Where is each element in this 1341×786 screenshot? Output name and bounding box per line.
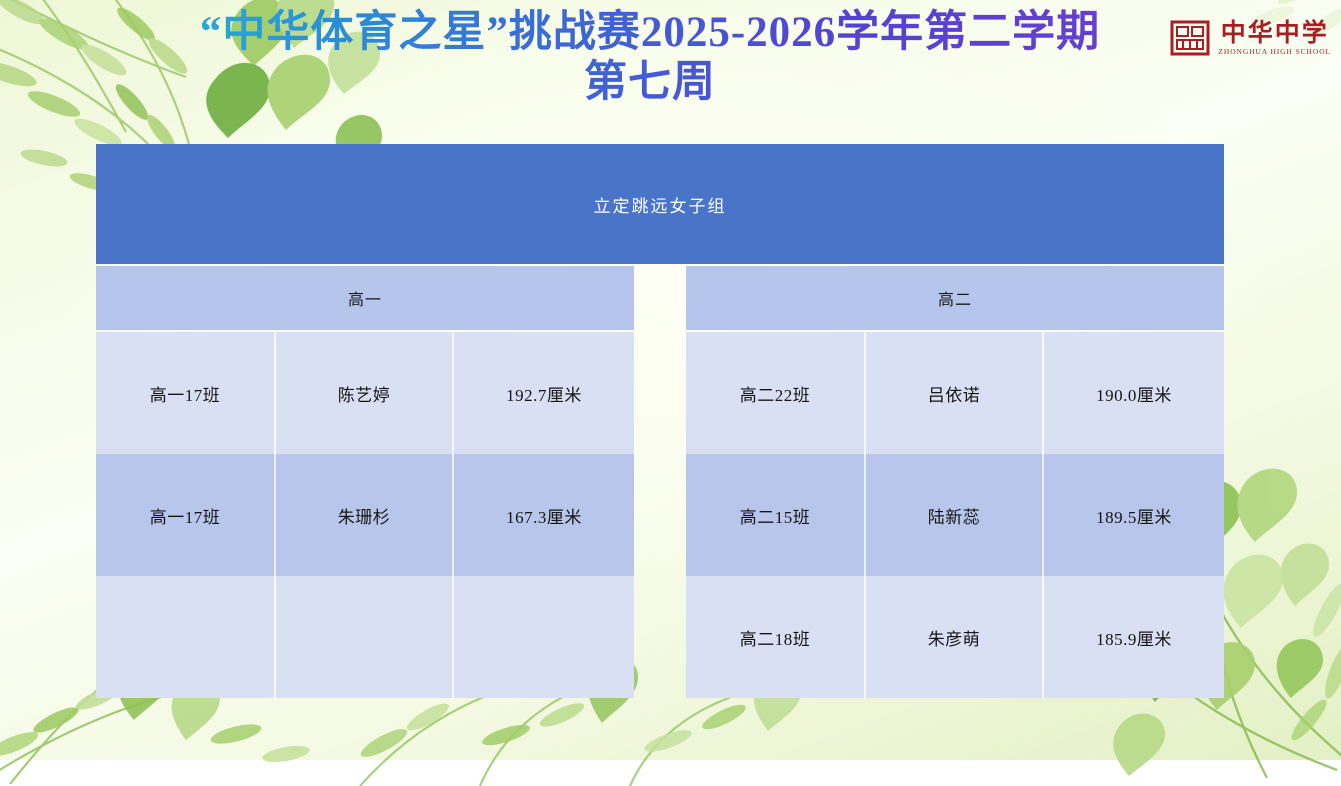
grade-title-2: 高二 bbox=[686, 266, 1224, 330]
cell-name: 陆新蕊 bbox=[866, 454, 1044, 576]
table-row: 高二15班 陆新蕊 189.5厘米 bbox=[686, 454, 1224, 576]
cell-result: 185.9厘米 bbox=[1044, 576, 1224, 698]
table-row: 高二18班 朱彦萌 185.9厘米 bbox=[686, 576, 1224, 698]
cell-name bbox=[276, 576, 454, 698]
grade-rows-2: 高二22班 吕依诺 190.0厘米 高二15班 陆新蕊 189.5厘米 高二18… bbox=[686, 332, 1224, 698]
cell-result bbox=[454, 576, 634, 698]
cell-result: 167.3厘米 bbox=[454, 454, 634, 576]
cell-class: 高一17班 bbox=[96, 454, 276, 576]
cell-name: 陈艺婷 bbox=[276, 332, 454, 454]
grade-columns: 高一 高一17班 陈艺婷 192.7厘米 高一17班 朱珊杉 167.3厘米 bbox=[96, 266, 1224, 698]
grade-title-1: 高一 bbox=[96, 266, 634, 330]
table-row: 高二22班 吕依诺 190.0厘米 bbox=[686, 332, 1224, 454]
results-table: 立定跳远女子组 高一 高一17班 陈艺婷 192.7厘米 高一17班 朱珊杉 1… bbox=[96, 144, 1224, 698]
event-title-text: 立定跳远女子组 bbox=[594, 192, 727, 217]
table-row: 高一17班 朱珊杉 167.3厘米 bbox=[96, 454, 634, 576]
table-row: 高一17班 陈艺婷 192.7厘米 bbox=[96, 332, 634, 454]
slide-canvas: “中华体育之星”挑战赛2025-2026学年第二学期 第七周 中华中学 ZHON… bbox=[0, 0, 1341, 760]
logo-text: 中华中学 ZHONGHUA HIGH SCHOOL bbox=[1218, 20, 1331, 57]
cell-name: 朱彦萌 bbox=[866, 576, 1044, 698]
seal-icon bbox=[1170, 18, 1210, 58]
grade-rows-1: 高一17班 陈艺婷 192.7厘米 高一17班 朱珊杉 167.3厘米 bbox=[96, 332, 634, 698]
cell-class: 高二18班 bbox=[686, 576, 866, 698]
title-line-1: “中华体育之星”挑战赛2025-2026学年第二学期 bbox=[120, 8, 1180, 58]
cell-class: 高一17班 bbox=[96, 332, 276, 454]
slide-title: “中华体育之星”挑战赛2025-2026学年第二学期 第七周 bbox=[120, 8, 1180, 108]
logo-name-cn: 中华中学 bbox=[1221, 20, 1329, 47]
logo-name-en: ZHONGHUA HIGH SCHOOL bbox=[1218, 47, 1331, 57]
cell-name: 朱珊杉 bbox=[276, 454, 454, 576]
grade-group-2: 高二 高二22班 吕依诺 190.0厘米 高二15班 陆新蕊 189.5厘米 高… bbox=[686, 266, 1224, 698]
cell-result: 190.0厘米 bbox=[1044, 332, 1224, 454]
cell-name: 吕依诺 bbox=[866, 332, 1044, 454]
cell-result: 189.5厘米 bbox=[1044, 454, 1224, 576]
cell-class: 高二15班 bbox=[686, 454, 866, 576]
title-line-2: 第七周 bbox=[120, 58, 1180, 108]
table-row-empty bbox=[96, 576, 634, 698]
school-logo: 中华中学 ZHONGHUA HIGH SCHOOL bbox=[1170, 18, 1331, 58]
cell-result: 192.7厘米 bbox=[454, 332, 634, 454]
grade-group-1: 高一 高一17班 陈艺婷 192.7厘米 高一17班 朱珊杉 167.3厘米 bbox=[96, 266, 634, 698]
cell-class bbox=[96, 576, 276, 698]
cell-class: 高二22班 bbox=[686, 332, 866, 454]
event-title-header: 立定跳远女子组 bbox=[96, 144, 1224, 264]
